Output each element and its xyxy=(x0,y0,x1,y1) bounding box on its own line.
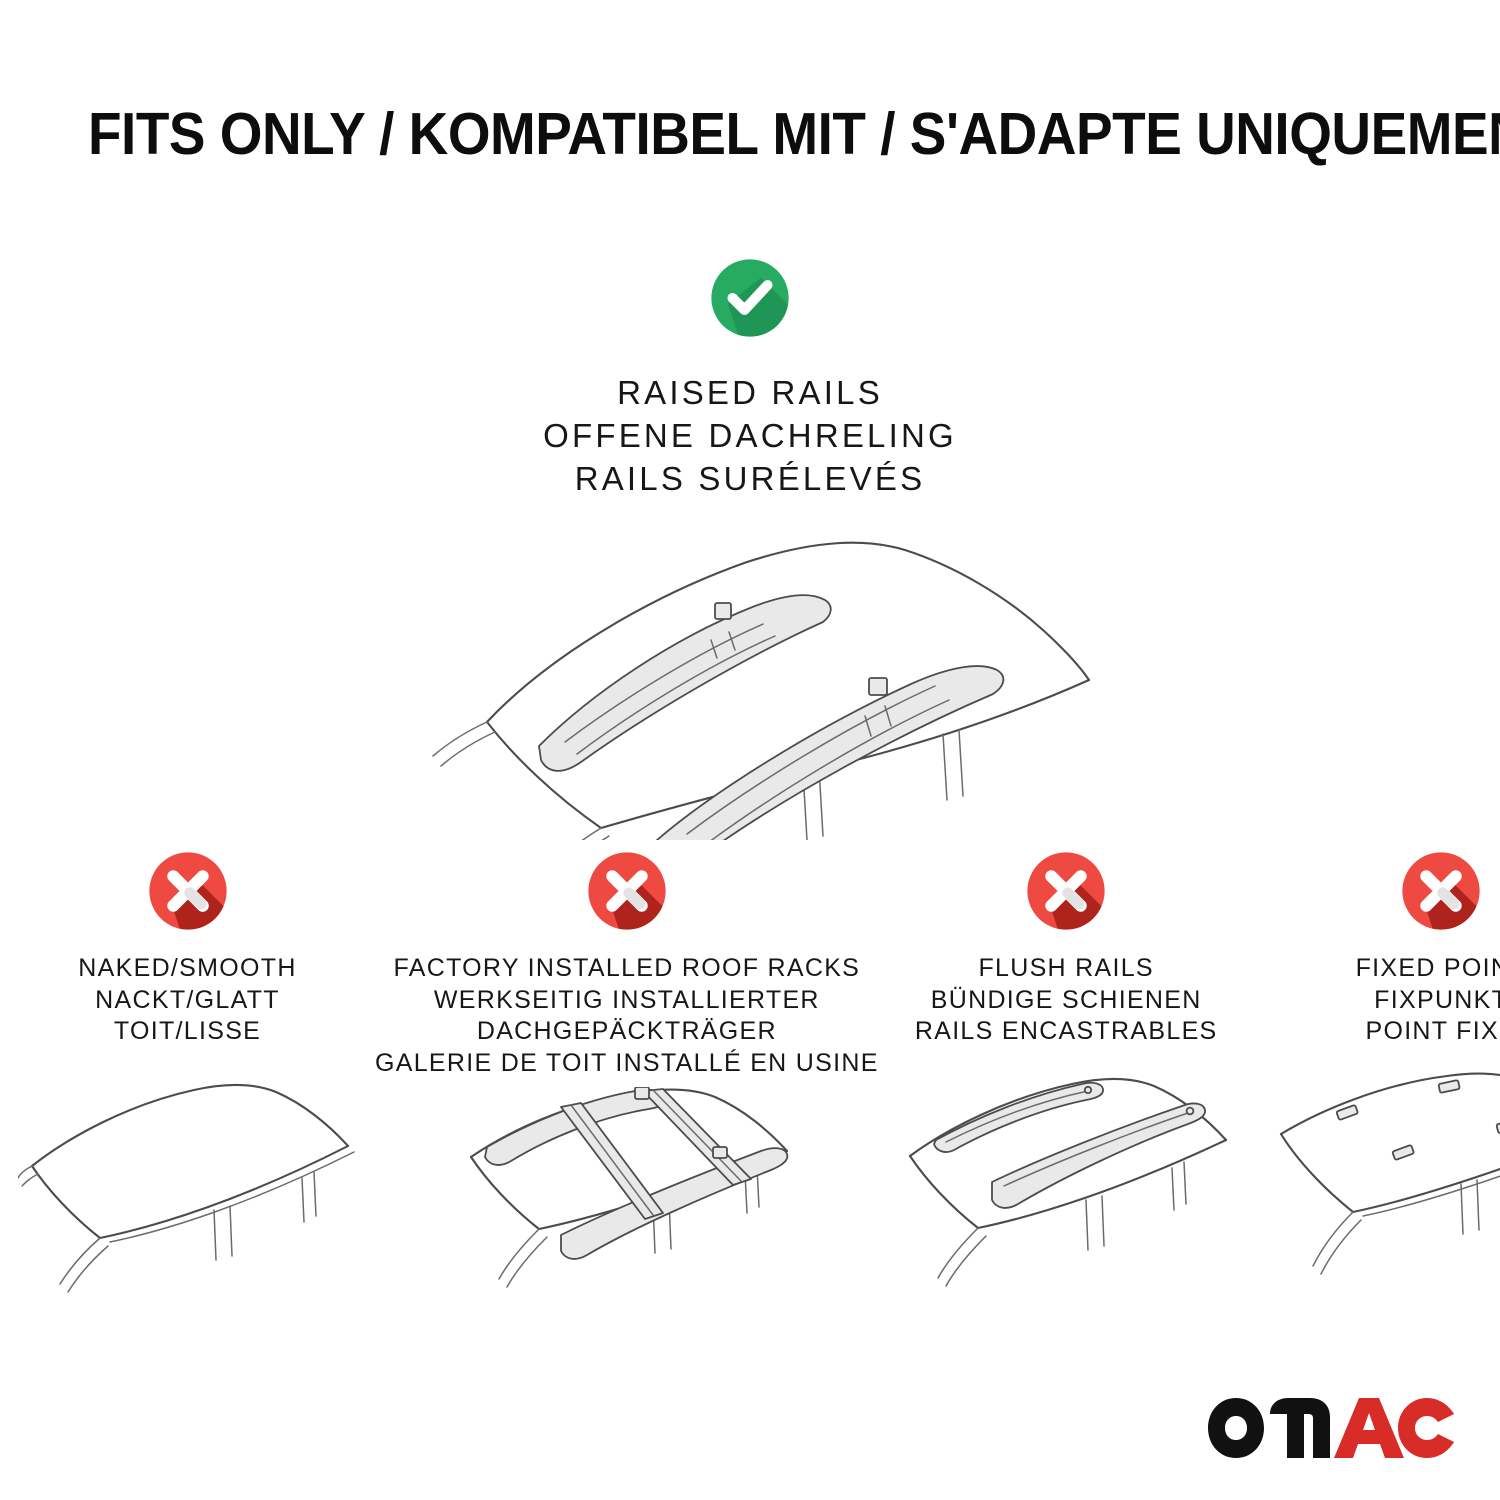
compatible-label-line-2: OFFENE DACHRELING xyxy=(0,415,1500,458)
car-roof-naked-smooth-illustration xyxy=(18,1070,358,1305)
label-line: TOIT/LISSE xyxy=(78,1016,296,1048)
incompatible-label-factory-rack: FACTORY INSTALLED ROOF RACKS WERKSEITIG … xyxy=(375,953,879,1079)
check-circle-icon xyxy=(704,252,796,344)
label-line: NACKT/GLATT xyxy=(78,985,296,1017)
compatible-label-line-1: RAISED RAILS xyxy=(0,372,1500,415)
cross-circle-icon xyxy=(1020,845,1112,937)
car-roof-fixed-point-illustration xyxy=(1271,1070,1500,1305)
label-line: FIXPUNKT xyxy=(1356,985,1500,1017)
incompatible-label-fixed-point: FIXED POINT FIXPUNKT POINT FIXE xyxy=(1356,953,1500,1048)
incompatible-label-flush-rails: FLUSH RAILS BÜNDIGE SCHIENEN RAILS ENCAS… xyxy=(915,953,1218,1048)
label-line: GALERIE DE TOIT INSTALLÉ EN USINE xyxy=(375,1048,879,1080)
compatible-label-line-3: RAILS SURÉLEVÉS xyxy=(0,458,1500,501)
cross-circle-icon xyxy=(142,845,234,937)
label-line: NAKED/SMOOTH xyxy=(78,953,296,985)
incompatible-item-naked-smooth: NAKED/SMOOTH NACKT/GLATT TOIT/LISSE xyxy=(0,845,375,1305)
label-line: FLUSH RAILS xyxy=(915,953,1218,985)
label-line: FIXED POINT xyxy=(1356,953,1500,985)
compatible-label: RAISED RAILS OFFENE DACHRELING RAILS SUR… xyxy=(0,372,1500,501)
cross-circle-icon xyxy=(581,845,673,937)
page-title: FITS ONLY / KOMPATIBEL MIT / S'ADAPTE UN… xyxy=(88,104,1325,166)
incompatible-item-fixed-point: FIXED POINT FIXPUNKT POINT FIXE xyxy=(1254,845,1500,1305)
incompatible-item-factory-rack: FACTORY INSTALLED ROOF RACKS WERKSEITIG … xyxy=(375,845,879,1322)
incompatible-section: NAKED/SMOOTH NACKT/GLATT TOIT/LISSE xyxy=(0,845,1500,1322)
omac-logo xyxy=(1206,1392,1456,1464)
compatible-section: RAISED RAILS OFFENE DACHRELING RAILS SUR… xyxy=(0,252,1500,501)
label-line: RAILS ENCASTRABLES xyxy=(915,1016,1218,1048)
label-line: WERKSEITIG INSTALLIERTER xyxy=(375,985,879,1017)
incompatible-label-naked-smooth: NAKED/SMOOTH NACKT/GLATT TOIT/LISSE xyxy=(78,953,296,1048)
cross-circle-icon xyxy=(1395,845,1487,937)
label-line: DACHGEPÄCKTRÄGER xyxy=(375,1016,879,1048)
car-roof-factory-installed-rack-illustration xyxy=(457,1087,797,1322)
car-roof-with-raised-rails-illustration xyxy=(395,510,1115,840)
label-line: POINT FIXE xyxy=(1356,1016,1500,1048)
label-line: BÜNDIGE SCHIENEN xyxy=(915,985,1218,1017)
car-roof-flush-rails-illustration xyxy=(896,1070,1236,1305)
incompatible-item-flush-rails: FLUSH RAILS BÜNDIGE SCHIENEN RAILS ENCAS… xyxy=(879,845,1254,1305)
label-line: FACTORY INSTALLED ROOF RACKS xyxy=(375,953,879,985)
